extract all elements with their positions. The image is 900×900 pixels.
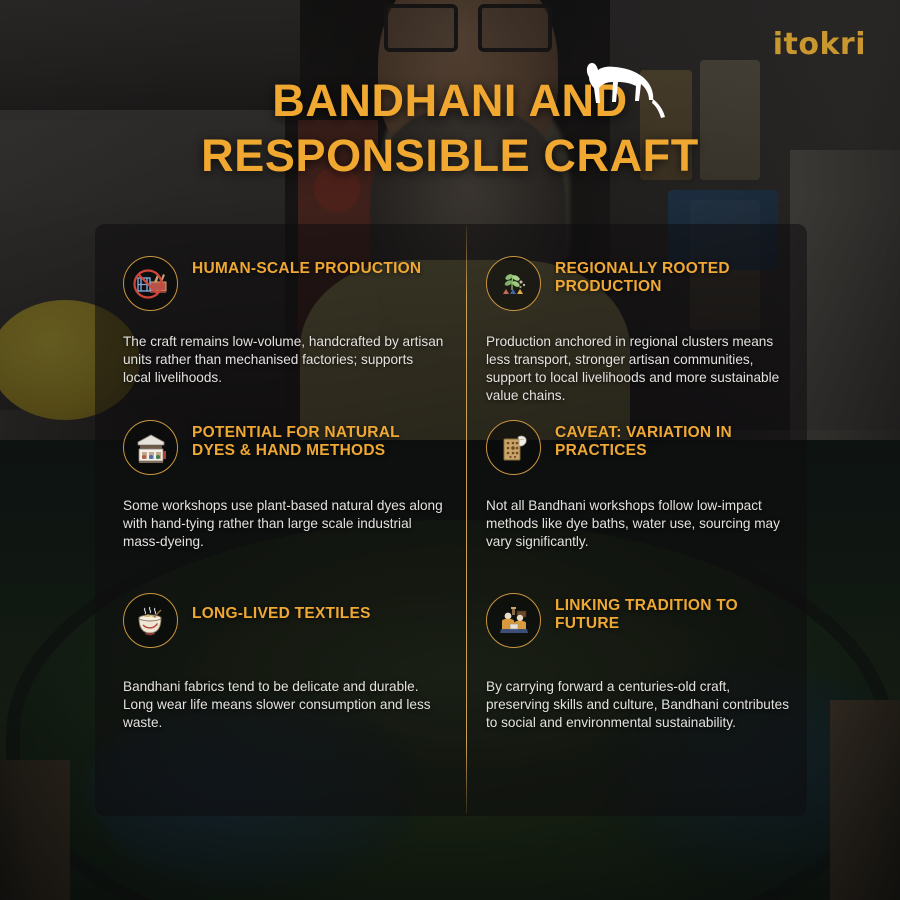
card-header: HUMAN-SCALE PRODUCTION [123,254,444,311]
card-caveat-variation-in-practices: CAVEAT: VARIATION IN PRACTICES Not all B… [466,394,807,569]
hand-holding-patterned-fabric-icon [486,420,541,475]
card-human-scale-production: HUMAN-SCALE PRODUCTION The craft remains… [95,224,466,394]
card-linking-tradition-to-future: LINKING TRADITION TO FUTURE By carrying … [466,569,807,816]
card-natural-dyes-hand-methods: POTENTIAL FOR NATURAL DYES & HAND METHOD… [95,394,466,569]
card-body: Bandhani fabrics tend to be delicate and… [123,678,444,732]
card-header: POTENTIAL FOR NATURAL DYES & HAND METHOD… [123,418,444,475]
two-artisans-sitting-icon [486,593,541,648]
card-header: REGIONALLY ROOTED PRODUCTION [486,254,797,311]
card-title: REGIONALLY ROOTED PRODUCTION [555,254,797,297]
card-title: HUMAN-SCALE PRODUCTION [192,254,421,278]
seedling-plant-icon [486,256,541,311]
card-body: Some workshops use plant-based natural d… [123,497,444,551]
card-header: LONG-LIVED TEXTILES [123,591,444,648]
card-body: The craft remains low-volume, handcrafte… [123,333,444,387]
page-title-line-1: BANDHANI AND [0,74,900,129]
page-title-line-2: RESPONSIBLE CRAFT [0,129,900,184]
itokri-logo: itokri [773,27,866,62]
card-long-lived-textiles: LONG-LIVED TEXTILES Bandhani fabrics ten… [95,569,466,816]
card-body: Not all Bandhani workshops follow low-im… [486,497,797,551]
page-title: BANDHANI AND RESPONSIBLE CRAFT [0,74,900,184]
artisan-workshop-building-icon [123,420,178,475]
card-regionally-rooted-production: REGIONALLY ROOTED PRODUCTION Production … [466,224,807,394]
card-header: CAVEAT: VARIATION IN PRACTICES [486,418,797,475]
steaming-dye-pot-icon [123,593,178,648]
card-title: LONG-LIVED TEXTILES [192,591,371,623]
no-factory-machine-icon [123,256,178,311]
card-title: LINKING TRADITION TO FUTURE [555,591,797,634]
card-body: By carrying forward a centuries-old craf… [486,678,797,732]
benefits-grid: HUMAN-SCALE PRODUCTION The craft remains… [95,224,807,816]
card-title: POTENTIAL FOR NATURAL DYES & HAND METHOD… [192,418,444,461]
card-header: LINKING TRADITION TO FUTURE [486,591,797,648]
card-title: CAVEAT: VARIATION IN PRACTICES [555,418,797,461]
